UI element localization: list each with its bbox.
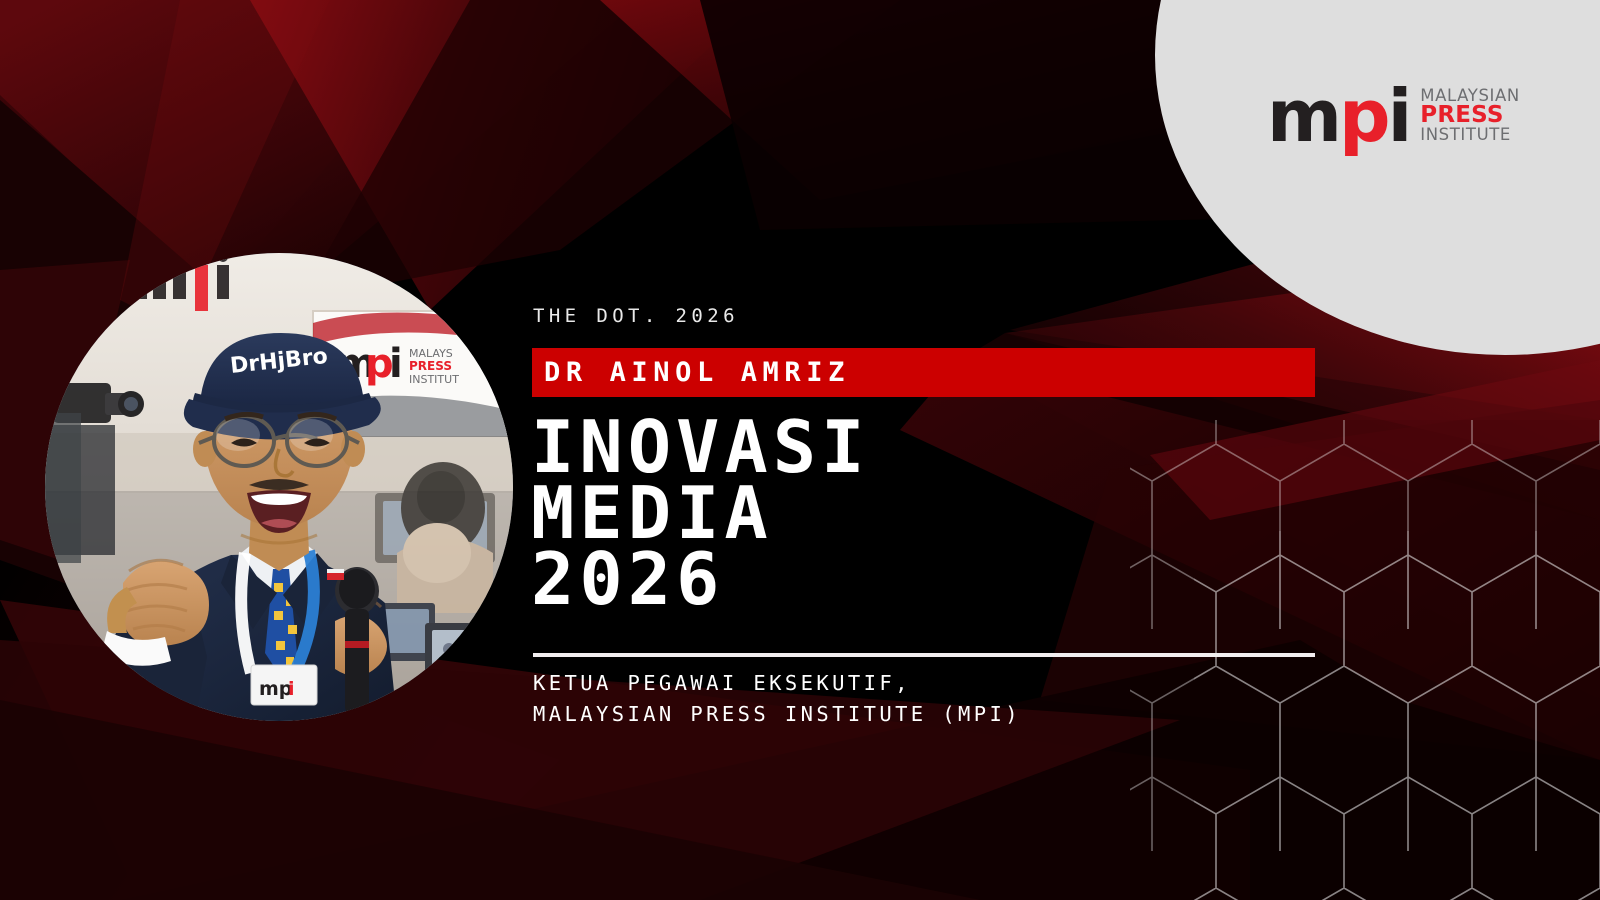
mpi-logo: mpi MALAYSIAN PRESS INSTITUTE [1267,76,1512,156]
mpi-wordmark: mpi [1267,88,1409,144]
portrait-illustration: m p i MALAYS PRESS INSTITUT [45,253,513,721]
presentation-slide: mpi MALAYSIAN PRESS INSTITUTE [0,0,1600,900]
mpi-logo-words: MALAYSIAN PRESS INSTITUTE [1415,88,1520,143]
speaker-title-line-1: KETUA PEGAWAI EKSEKUTIF, [533,668,1021,699]
speaker-name: DR AINOL AMRIZ [532,357,850,388]
headline: INOVASI MEDIA 2026 [531,414,1351,612]
portrait-panel-logo-i: i [389,341,403,387]
speaker-title: KETUA PEGAWAI EKSEKUTIF, MALAYSIAN PRESS… [533,668,1021,730]
svg-text:i: i [288,678,295,700]
speaker-title-line-2: MALAYSIAN PRESS INSTITUTE (MPI) [533,699,1021,730]
portrait-panel-line2: PRESS [409,359,452,373]
speaker-name-bar: DR AINOL AMRIZ [532,348,1315,397]
divider-rule [533,653,1315,657]
logo-letter-p: p [1339,88,1388,144]
logo-word-institute: INSTITUTE [1420,127,1520,144]
speaker-portrait: m p i MALAYS PRESS INSTITUT [45,253,513,721]
headline-line-3: 2026 [531,546,1351,612]
logo-letter-i: i [1388,88,1410,144]
event-eyebrow: THE DOT. 2026 [533,305,739,327]
portrait-panel-line3: INSTITUT [409,373,459,386]
logo-letter-m: m [1267,88,1339,144]
